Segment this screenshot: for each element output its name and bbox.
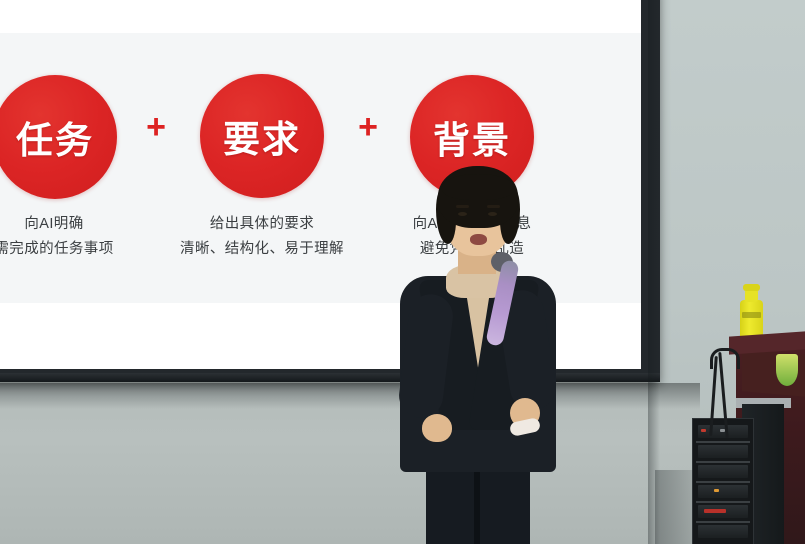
plus-operator-2: + — [354, 114, 382, 142]
rack-shelf-5 — [696, 521, 750, 523]
rack-shelf-2 — [696, 461, 750, 463]
rack-shelf-4 — [696, 501, 750, 503]
water-bottle-cap — [743, 284, 760, 291]
caption-requirement-line2: 清晰、结构化、易于理解 — [142, 237, 382, 262]
wall-corner-shading — [648, 0, 660, 544]
water-bottle-label — [742, 312, 761, 318]
rack-unit-5 — [698, 505, 748, 518]
bubble-label-task: 任务 — [16, 110, 94, 164]
speaker-eye-right — [488, 212, 497, 216]
lectern-emblem — [776, 354, 798, 386]
lecture-room-photo: 任务 + 要求 + 背景 向AI明确 需完成的任务事项 给 — [0, 0, 805, 544]
rack-unit-6 — [698, 525, 748, 538]
plus-operator-1: + — [142, 114, 170, 142]
slide-bubble-requirement: 要求 — [200, 74, 324, 198]
speaker-leg-split — [474, 468, 480, 544]
rack-unit-2 — [698, 445, 748, 458]
rack-shelf-3 — [696, 481, 750, 483]
rack-led-amber — [714, 489, 719, 492]
rack-led-red — [701, 429, 706, 432]
speaker-presenter — [388, 168, 568, 544]
speaker-hand-left — [422, 414, 452, 442]
equipment-rack — [692, 418, 754, 544]
caption-requirement: 给出具体的要求 清晰、结构化、易于理解 — [142, 212, 382, 262]
speaker-brow-left — [456, 205, 469, 208]
rack-unit-1 — [698, 425, 748, 438]
wall-shadow — [0, 383, 700, 409]
bubble-label-context: 背景 — [433, 110, 511, 164]
slide-bubble-task: 任务 — [0, 75, 117, 199]
rack-led-strip — [704, 509, 726, 513]
caption-requirement-line1: 给出具体的要求 — [142, 212, 382, 237]
speaker-fringe — [442, 174, 514, 200]
bubble-label-requirement: 要求 — [223, 109, 301, 163]
speaker-brow-right — [487, 205, 500, 208]
speaker-mouth — [470, 234, 487, 245]
rack-unit-4 — [698, 485, 748, 498]
rack-unit-3 — [698, 465, 748, 478]
speaker-eye-left — [458, 212, 467, 216]
rack-shelf-1 — [696, 441, 750, 443]
